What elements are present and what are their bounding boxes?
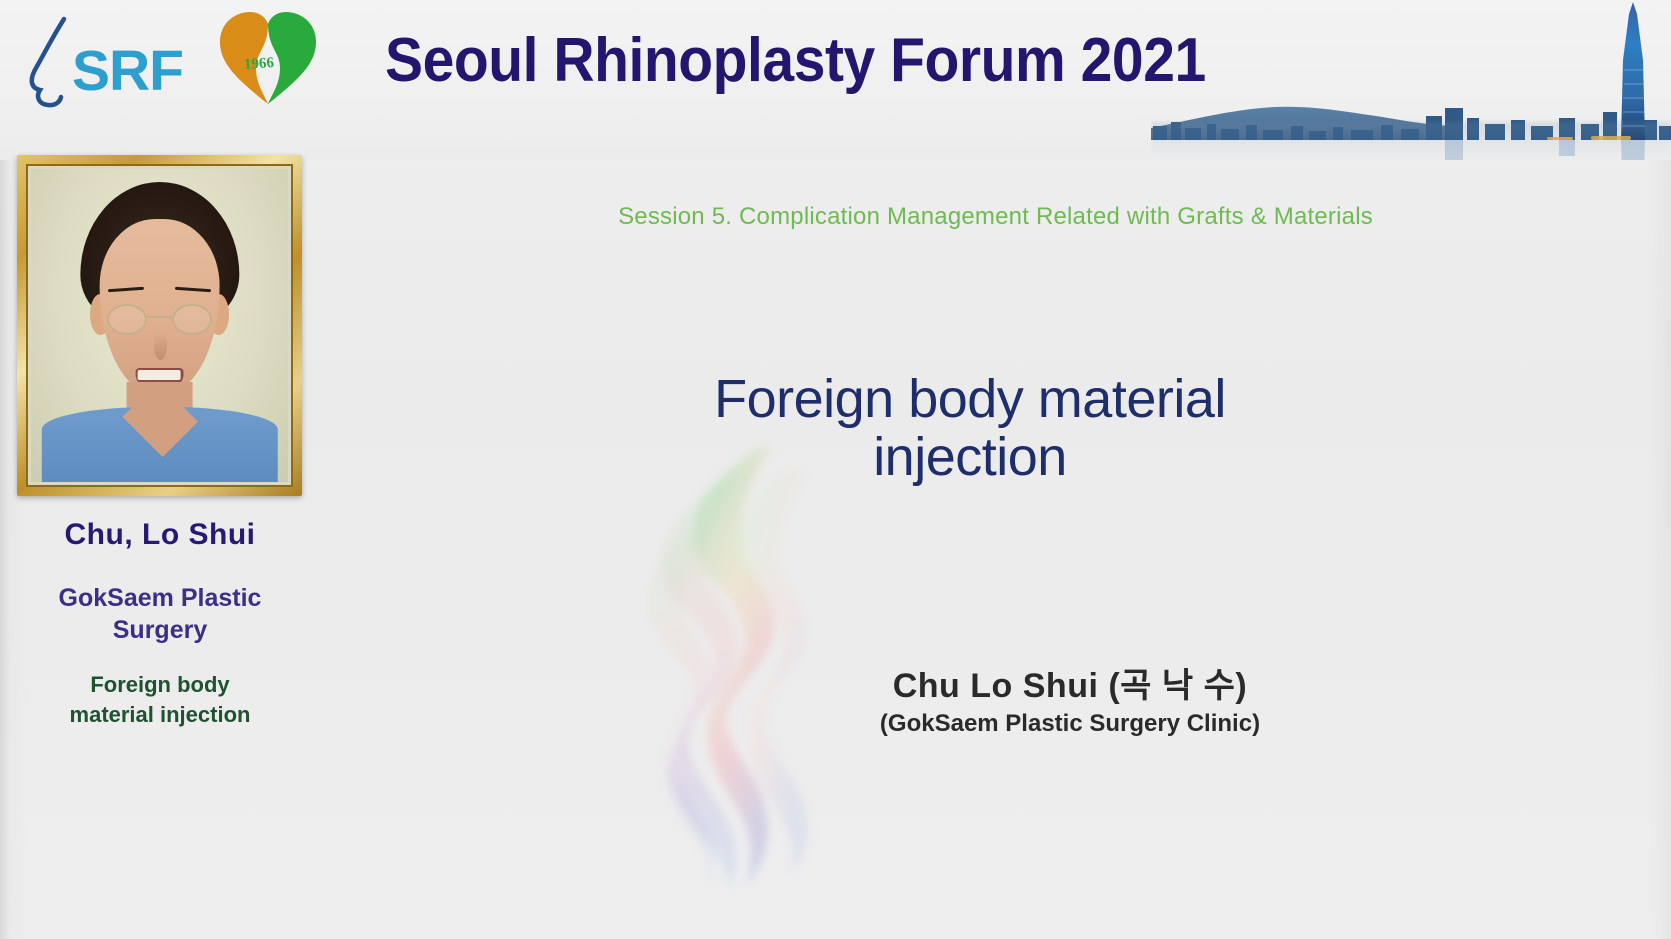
session-label: Session 5. Complication Management Relat… [320, 203, 1671, 231]
presentation-slide-screen: SRF 1966 Seoul Rhinoplasty Forum 2021 [0, 0, 1671, 939]
srf-logo: SRF [24, 12, 214, 112]
portrait-frame-bevel [26, 164, 293, 487]
seoul-skyline-icon [1151, 0, 1671, 160]
presenter-portrait-photo [31, 169, 288, 482]
slide-speaker-clinic: (GokSaem Plastic Surgery Clinic) [520, 710, 1620, 738]
forum-title: Seoul Rhinoplasty Forum 2021 [385, 28, 1206, 93]
pastel-smoke-flourish [560, 420, 860, 890]
srf-wordmark: SRF [72, 38, 183, 104]
slide-title: Foreign body material injection [330, 370, 1610, 487]
skyline-reflection [1151, 122, 1671, 156]
heart-yinyang-icon: 1966 [218, 8, 318, 108]
slide-speaker-name: Chu Lo Shui (곡 낙 수) [520, 658, 1620, 707]
header-band: SRF 1966 Seoul Rhinoplasty Forum 2021 [0, 0, 1671, 160]
heart-year-label: 1966 [243, 55, 274, 74]
presenter-affiliation: GokSaem Plastic Surgery [10, 582, 310, 646]
presenter-name: Chu, Lo Shui [0, 518, 320, 552]
presenter-portrait-frame [17, 155, 302, 496]
presenter-topic: Foreign body material injection [10, 670, 310, 729]
